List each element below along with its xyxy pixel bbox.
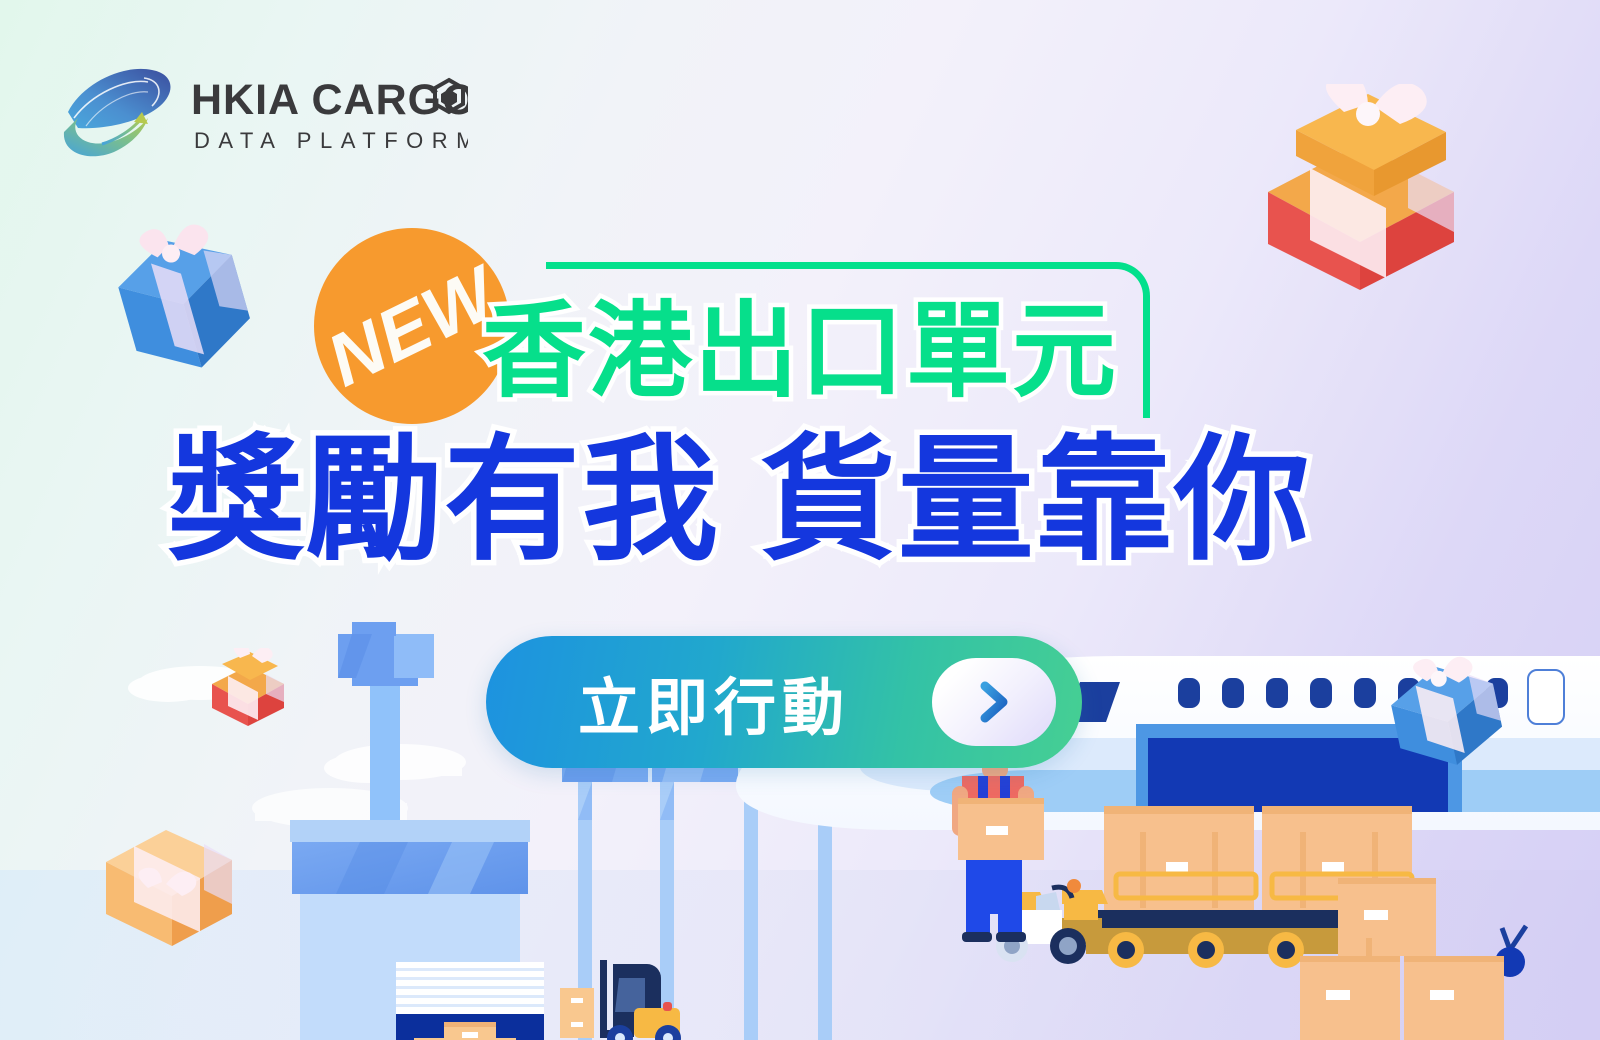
cta-button-label: 立即行動 — [578, 657, 850, 747]
headline-subtitle: 香港出口單元 — [482, 300, 1118, 404]
cta-button[interactable]: 立即行動 — [486, 636, 1082, 768]
gift-box-blue-right — [1378, 648, 1514, 778]
new-badge-label: NEW — [314, 249, 509, 402]
gift-box-blue-left — [98, 218, 270, 394]
warehouse-building — [290, 820, 544, 1040]
logo-title: HKIA CARGO — [191, 76, 468, 124]
headline-main: 獎勵有我 貨量靠你 — [168, 432, 1312, 568]
gift-box-orange-left — [100, 818, 250, 954]
logo-subtitle: DATA PLATFORM — [194, 128, 468, 153]
gift-box-red-small — [206, 648, 290, 730]
new-badge: NEW — [314, 228, 510, 424]
swoosh-orbit-icon — [64, 69, 171, 156]
promotional-banner: HKIA CARGO DATA PLATFORM NEW 香港出口單元 獎勵有我… — [0, 0, 1600, 1040]
chevron-right-icon[interactable] — [932, 658, 1056, 746]
hkia-cargo-logo[interactable]: HKIA CARGO DATA PLATFORM — [48, 56, 468, 168]
gift-box-red-top-right — [1248, 84, 1474, 300]
